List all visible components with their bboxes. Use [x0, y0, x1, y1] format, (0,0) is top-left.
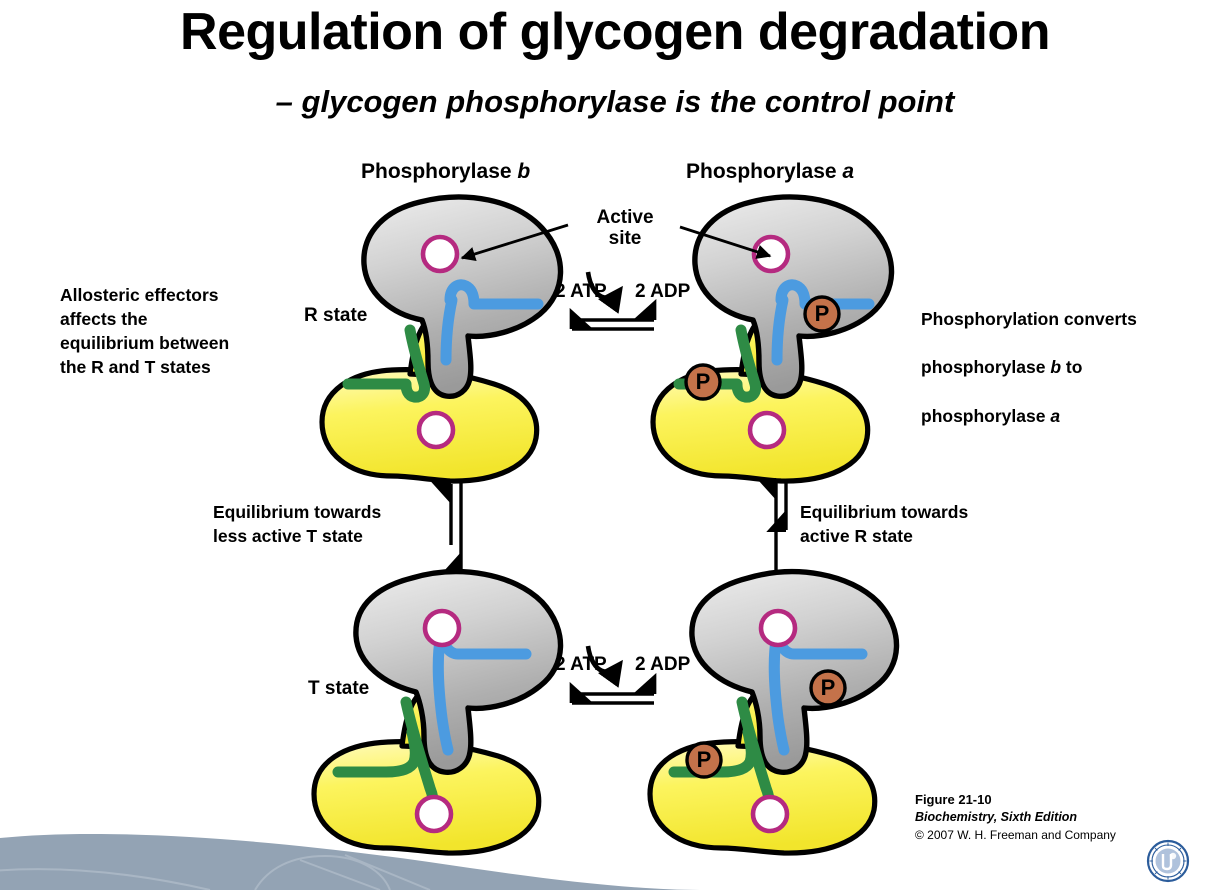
state-label-t: T state [308, 678, 369, 700]
active-site-callout-label: Active site [575, 207, 675, 250]
state-label-r: R state [304, 305, 367, 327]
slide-canvas: P [0, 0, 1230, 890]
institution-seal-icon [1148, 841, 1188, 881]
decorative-band [0, 834, 700, 890]
slide-decoration [0, 0, 1230, 890]
